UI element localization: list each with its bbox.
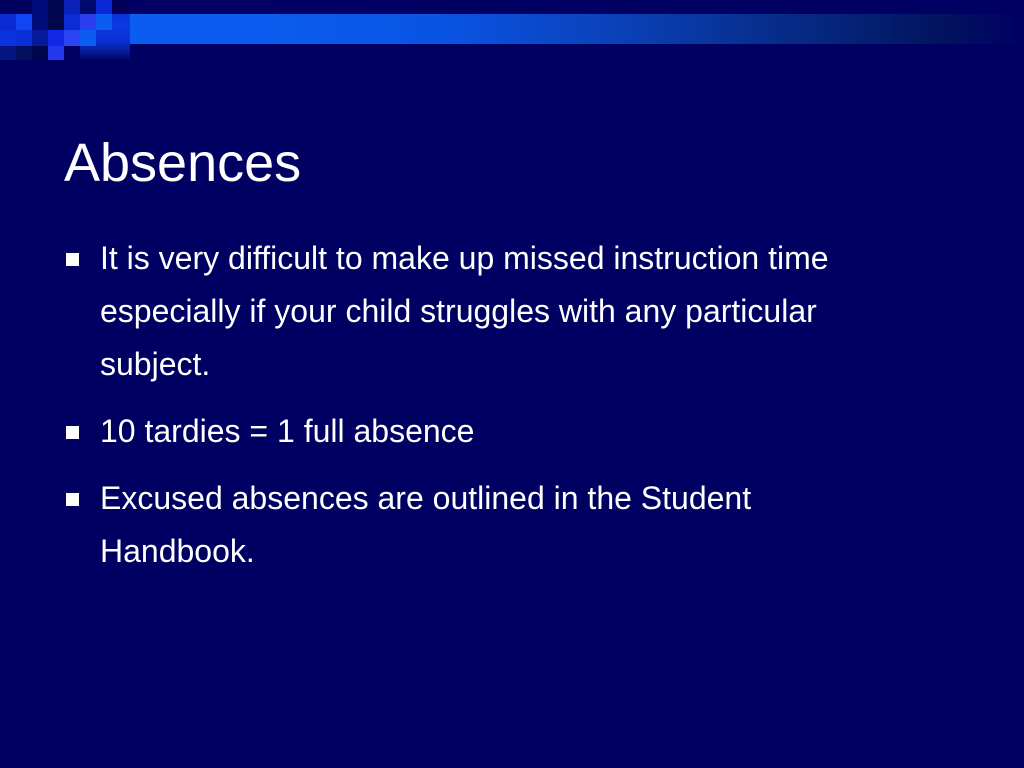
- decorative-square: [0, 0, 16, 14]
- decorative-square: [48, 0, 64, 14]
- square-bullet-icon: [66, 493, 79, 506]
- list-item-text: 10 tardies = 1 full absence: [100, 405, 880, 458]
- header-accent-bar: [0, 14, 1024, 44]
- decorative-square: [16, 46, 32, 60]
- decorative-square: [64, 0, 80, 14]
- list-item: Excused absences are outlined in the Stu…: [64, 472, 924, 578]
- header-decoration: [0, 0, 1024, 60]
- decorative-square: [32, 0, 48, 14]
- decorative-square: [80, 30, 96, 46]
- list-item-text: Excused absences are outlined in the Stu…: [100, 472, 880, 578]
- square-bullet-icon: [66, 253, 79, 266]
- decorative-square: [32, 14, 48, 30]
- decorative-square: [112, 0, 130, 14]
- decorative-square: [64, 30, 80, 46]
- list-item: 10 tardies = 1 full absence: [64, 405, 924, 458]
- decorative-square: [48, 14, 64, 30]
- decorative-square: [32, 46, 48, 60]
- decorative-square: [16, 0, 32, 14]
- decorative-square: [64, 14, 80, 30]
- bullet-list: It is very difficult to make up missed i…: [64, 232, 924, 592]
- decorative-square: [48, 46, 64, 60]
- slide-canvas: Absences It is very difficult to make up…: [0, 0, 1024, 768]
- decorative-square: [0, 46, 16, 60]
- decorative-square: [16, 30, 32, 46]
- decorative-square: [96, 14, 112, 30]
- decorative-square: [0, 14, 16, 30]
- decorative-square: [0, 30, 16, 46]
- decorative-square: [16, 14, 32, 30]
- decorative-square: [32, 30, 48, 46]
- slide-title: Absences: [64, 130, 964, 196]
- square-bullet-icon: [66, 426, 79, 439]
- decorative-square: [96, 0, 112, 14]
- decorative-square: [80, 14, 96, 30]
- decorative-square: [48, 30, 64, 46]
- decorative-square: [80, 0, 96, 14]
- list-item: It is very difficult to make up missed i…: [64, 232, 924, 391]
- decorative-square: [64, 46, 80, 60]
- list-item-text: It is very difficult to make up missed i…: [100, 232, 880, 391]
